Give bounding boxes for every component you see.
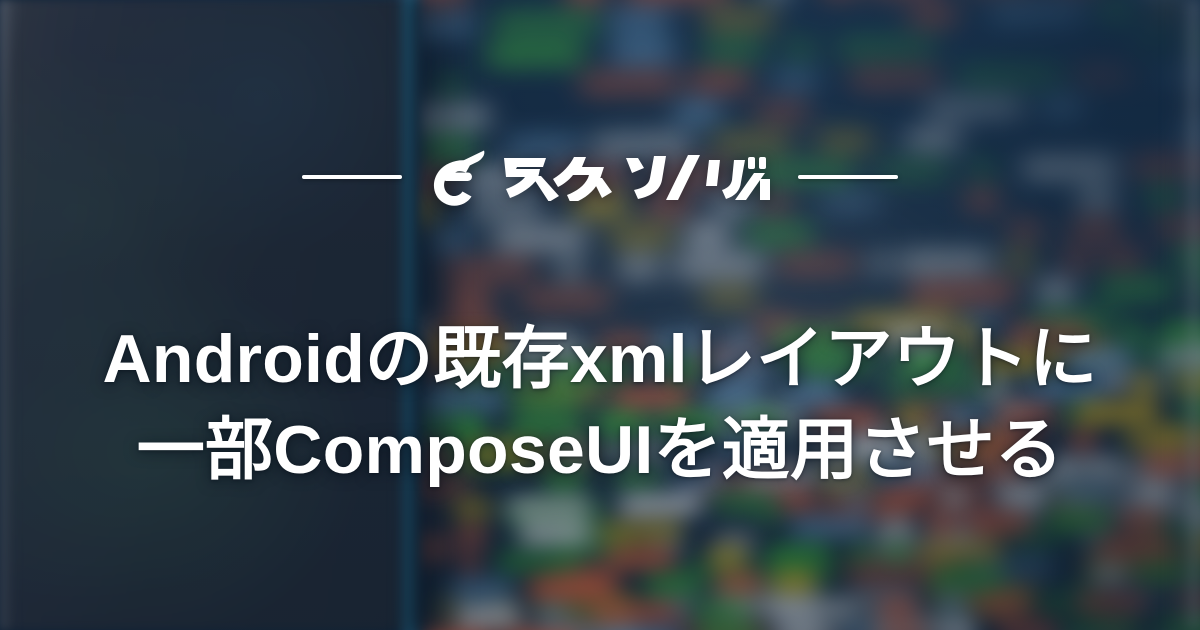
- divider-rule-right: [798, 175, 898, 179]
- page-title-line-1: Androidの既存xmlレイアウトに: [28, 314, 1172, 405]
- ogp-card: Androidの既存xmlレイアウトに 一部ComposeUIを適用させる: [0, 0, 1200, 630]
- card-content: Androidの既存xmlレイアウトに 一部ComposeUIを適用させる: [0, 0, 1200, 630]
- brand-logo-row: [0, 148, 1200, 206]
- stanby-logotype: [502, 153, 772, 201]
- stanby-swoosh-logo-icon: [428, 148, 488, 206]
- page-title-line-2: 一部ComposeUIを適用させる: [28, 405, 1172, 496]
- page-title: Androidの既存xmlレイアウトに 一部ComposeUIを適用させる: [0, 314, 1200, 496]
- divider-rule-left: [302, 175, 402, 179]
- stanby-logo: [428, 148, 772, 206]
